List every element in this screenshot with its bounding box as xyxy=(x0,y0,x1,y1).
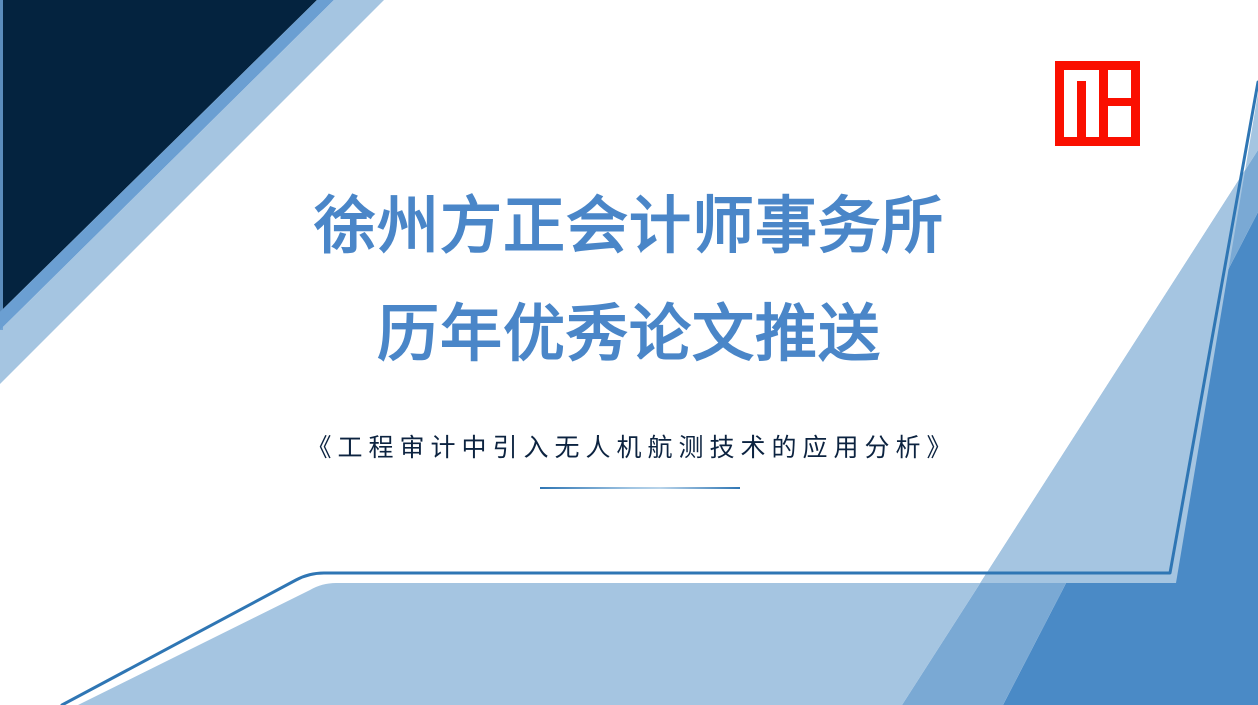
logo-right-upper xyxy=(1108,70,1131,98)
logo-left-bridge xyxy=(1064,70,1099,81)
logo-right-lower xyxy=(1108,106,1131,137)
presentation-slide: 徐州方正会计师事务所 历年优秀论文推送 《工程审计中引入无人机航测技术的应用分析… xyxy=(0,0,1258,705)
company-logo xyxy=(1055,61,1140,146)
left-edge-sliver xyxy=(0,0,3,330)
